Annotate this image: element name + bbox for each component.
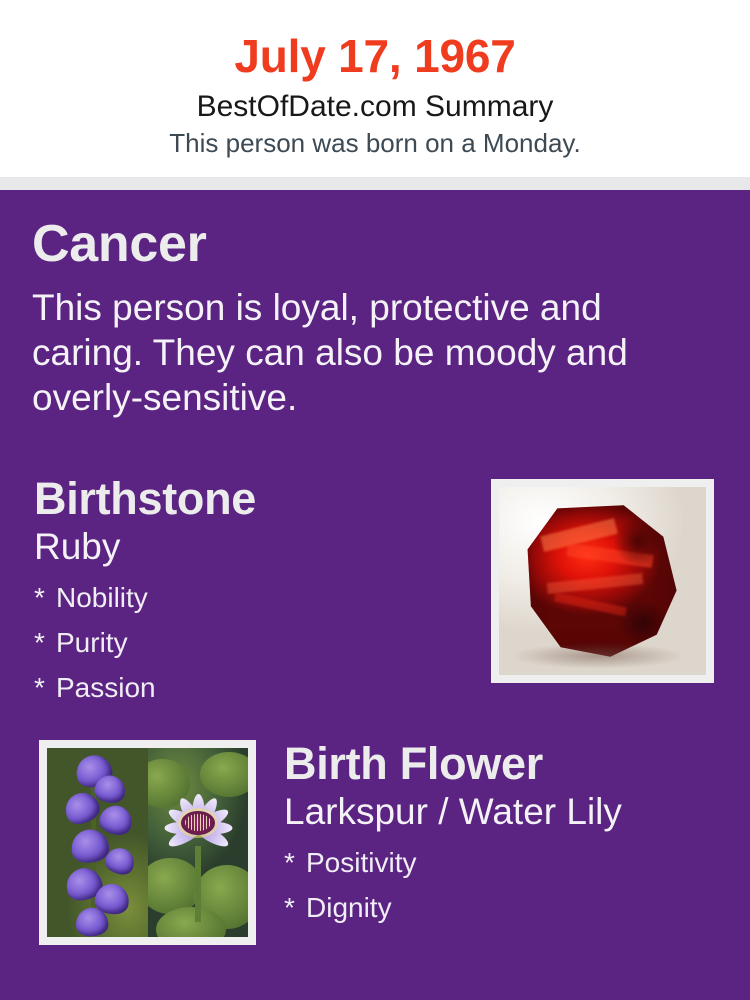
- card-header: July 17, 1967 BestOfDate.com Summary Thi…: [0, 0, 750, 177]
- birth-flower-trait-list: *Positivity *Dignity: [284, 840, 734, 930]
- birthstone-image-frame: [491, 479, 714, 683]
- water-lily-photo: [148, 748, 249, 937]
- zodiac-description: This person is loyal, protective and car…: [32, 285, 652, 420]
- list-item: *Purity: [34, 620, 464, 665]
- bullet-star-icon: *: [284, 840, 306, 885]
- ruby-facet: [547, 573, 644, 594]
- bullet-star-icon: *: [284, 885, 306, 930]
- birthstone-trait-label: Passion: [56, 672, 156, 703]
- birth-flower-image-frame: [39, 740, 256, 945]
- list-item: *Dignity: [284, 885, 734, 930]
- birthstone-title: Birthstone: [34, 473, 464, 525]
- birth-weekday-note: This person was born on a Monday.: [0, 126, 750, 159]
- birth-flower-value: Larkspur / Water Lily: [284, 790, 734, 834]
- ruby-crystal-photo: [499, 487, 706, 675]
- bullet-star-icon: *: [34, 575, 56, 620]
- birthstone-section: Birthstone Ruby *Nobility *Purity *Passi…: [34, 473, 464, 710]
- details-panel: Cancer This person is loyal, protective …: [0, 190, 750, 1000]
- birthstone-trait-label: Purity: [56, 627, 128, 658]
- larkspur-and-water-lily-photo: [47, 748, 248, 937]
- birth-flower-trait-label: Positivity: [306, 847, 416, 878]
- summary-card: July 17, 1967 BestOfDate.com Summary Thi…: [0, 0, 750, 1000]
- zodiac-sign-name: Cancer: [32, 214, 207, 274]
- larkspur-photo: [47, 748, 148, 937]
- list-item: *Passion: [34, 665, 464, 710]
- birthstone-trait-list: *Nobility *Purity *Passion: [34, 575, 464, 710]
- bullet-star-icon: *: [34, 620, 56, 665]
- lily-stamen-center: [181, 811, 215, 835]
- ruby-cast-shadow: [511, 643, 685, 669]
- bullet-star-icon: *: [34, 665, 56, 710]
- page-title-date: July 17, 1967: [0, 0, 750, 84]
- birthstone-trait-label: Nobility: [56, 582, 148, 613]
- water-lily-bloom: [155, 791, 241, 857]
- water-lily-stem: [195, 846, 201, 922]
- list-item: *Nobility: [34, 575, 464, 620]
- list-item: *Positivity: [284, 840, 734, 885]
- birth-flower-section: Birth Flower Larkspur / Water Lily *Posi…: [284, 738, 734, 930]
- birthstone-value: Ruby: [34, 525, 464, 569]
- header-divider: [0, 177, 750, 190]
- site-summary-label: BestOfDate.com Summary: [0, 84, 750, 126]
- birth-flower-trait-label: Dignity: [306, 892, 392, 923]
- birth-flower-title: Birth Flower: [284, 738, 734, 790]
